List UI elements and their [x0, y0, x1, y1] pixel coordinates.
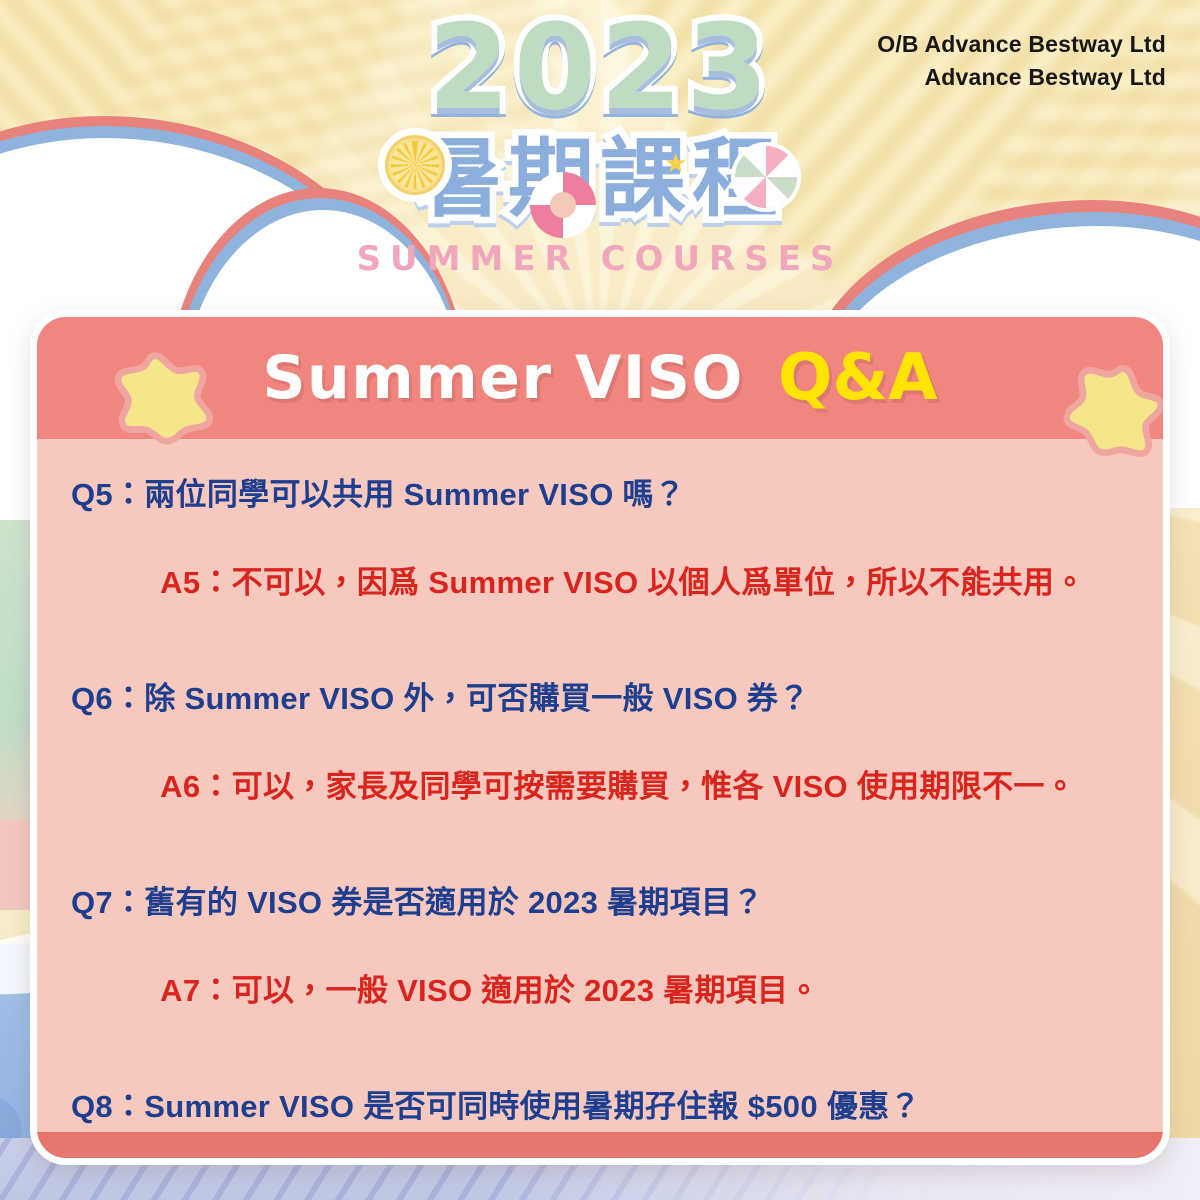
qa-title-main: Summer VISO: [262, 343, 744, 413]
answer-text: A5：不可以，因爲 Summer VISO 以個人爲單位，所以不能共用。: [71, 517, 1129, 649]
answer-text: A7：可以，一般 VISO 適用於 2023 暑期項目。: [71, 925, 1129, 1057]
poster-root: O/B Advance Bestway Ltd Advance Bestway …: [0, 0, 1200, 1200]
answer-line-1: A5：不可以，因爲 Summer VISO 以個人爲單位，所以不能共用。: [160, 565, 1085, 600]
company-name-line2: Advance Bestway Ltd: [877, 61, 1166, 94]
qa-card-footer: [37, 1132, 1163, 1158]
qa-list: Q5：兩位同學可以共用 Summer VISO 嗎？ A5：不可以，因爲 Sum…: [37, 439, 1163, 1165]
qa-item: Q5：兩位同學可以共用 Summer VISO 嗎？ A5：不可以，因爲 Sum…: [71, 473, 1129, 649]
answer-line-1: A6：可以，家長及同學可按需要購買，惟各 VISO 使用期限不一。: [160, 769, 1076, 804]
company-names: O/B Advance Bestway Ltd Advance Bestway …: [877, 28, 1166, 93]
qa-card-title-row: Summer VISO Q&A: [37, 317, 1163, 439]
question-text: Q8：Summer VISO 是否可同時使用暑期孖住報 $500 優惠？: [71, 1085, 1129, 1129]
question-text: Q5：兩位同學可以共用 Summer VISO 嗎？: [71, 473, 1129, 517]
question-text: Q7：舊有的 VISO 券是否適用於 2023 暑期項目？: [71, 881, 1129, 925]
qa-card: Summer VISO Q&A Q5：兩位同學可以共用 Summer VISO …: [30, 310, 1170, 1165]
answer-line-1: A7：可以，一般 VISO 適用於 2023 暑期項目。: [160, 973, 820, 1008]
star-icon-logo: ★: [664, 148, 687, 179]
qa-item: Q6：除 Summer VISO 外，可否購買一般 VISO 券？ A6：可以，…: [71, 677, 1129, 853]
lemon-slice-icon: [378, 128, 452, 202]
question-text: Q6：除 Summer VISO 外，可否購買一般 VISO 券？: [71, 677, 1129, 721]
beach-ball-icon: [735, 146, 797, 208]
qa-title-accent: Q&A: [778, 341, 938, 415]
answer-text: A6：可以，家長及同學可按需要購買，惟各 VISO 使用期限不一。: [71, 721, 1129, 853]
company-name-line1: O/B Advance Bestway Ltd: [877, 28, 1166, 61]
life-ring-icon: [530, 172, 596, 238]
qa-item: Q7：舊有的 VISO 券是否適用於 2023 暑期項目？ A7：可以，一般 V…: [71, 881, 1129, 1057]
